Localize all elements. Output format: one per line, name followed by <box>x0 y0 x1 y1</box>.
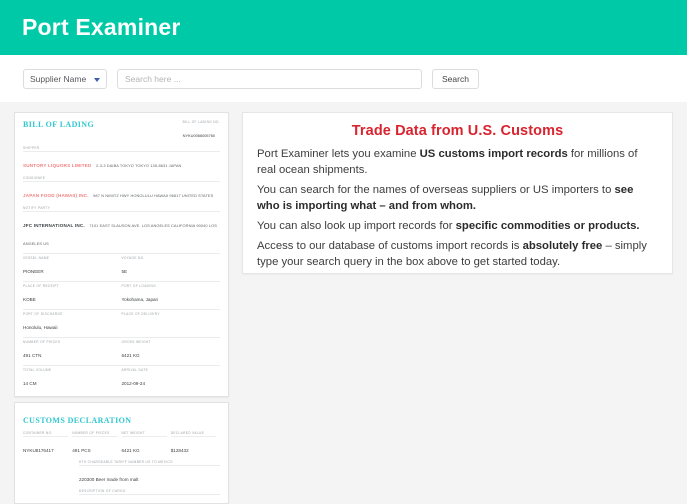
field-label: NUMBER OF PIECES <box>23 340 116 344</box>
panel-title: Trade Data from U.S. Customs <box>257 123 658 139</box>
bol-field: PLACE OF DELIVERY <box>122 312 221 334</box>
shipper-label: SHIPPER <box>23 146 220 152</box>
customs-column: NUMBER OF PIECES 491 PCS <box>72 431 121 457</box>
notify-party-block: NOTIFY PARTY JFC INTERNATIONAL INC. 7101… <box>23 206 220 250</box>
search-input[interactable] <box>117 69 422 89</box>
column-label: DECLARED VALUE <box>171 431 216 437</box>
search-category-select[interactable]: Supplier Name <box>23 69 107 89</box>
bol-field: NUMBER OF PIECES 491 CTN <box>23 340 122 362</box>
panel-paragraph: Port Examiner lets you examine US custom… <box>257 146 658 178</box>
column-label: NET WEIGHT <box>122 431 167 437</box>
cargo-description-label: DESCRIPTION OF CARGO <box>79 489 220 495</box>
shipper-block: SHIPPER SUNTORY LIQUORS LIMITED 2-3-3 DA… <box>23 146 220 172</box>
bol-field-row: NUMBER OF PIECES 491 CTN GROSS WEIGHT 64… <box>23 337 220 362</box>
field-value: Yokohama, Japan <box>122 297 159 302</box>
field-value: 491 CTN <box>23 353 41 358</box>
body-text: You can search for the names of overseas… <box>257 184 615 196</box>
body-text: Port Examiner lets you examine <box>257 148 420 160</box>
bol-field: PORT OF DISCHARGE Honolulu, Hawaii <box>23 312 122 334</box>
notify-party-name: JFC INTERNATIONAL INC. <box>23 223 85 228</box>
field-label: GROSS WEIGHT <box>122 340 215 344</box>
customs-declaration-title: CUSTOMS DECLARATION <box>23 416 131 425</box>
bol-field-row: TOTAL VOLUME 14 CM ARRIVAL DATE 2012-09-… <box>23 365 220 390</box>
search-button[interactable]: Search <box>432 69 479 89</box>
field-value: KOBE <box>23 297 36 302</box>
field-label: PLACE OF DELIVERY <box>122 312 215 316</box>
page-content: BILL OF LADING BILL OF LADING NO. NYKU00… <box>0 102 687 408</box>
emphasis-text: specific commodities or products. <box>456 220 640 232</box>
consignee-name: JAPAN FOOD (HAWAII) INC. <box>23 193 89 198</box>
bol-field: TOTAL VOLUME 14 CM <box>23 368 122 390</box>
column-value: $128432 <box>171 448 189 453</box>
customs-column: CONTAINER NO. NYKU8176417 <box>23 431 72 457</box>
bol-number-value: NYKU0066005760 <box>183 133 215 138</box>
panel-paragraph: You can search for the names of overseas… <box>257 182 658 214</box>
bol-field: ARRIVAL DATE 2012-09-24 <box>122 368 221 390</box>
panel-paragraph: You can also look up import records for … <box>257 218 658 234</box>
field-value: PIONEER <box>23 269 44 274</box>
bol-number-block: BILL OF LADING NO. NYKU0066005760 <box>183 120 220 142</box>
notify-party-label: NOTIFY PARTY <box>23 206 220 212</box>
field-label: TOTAL VOLUME <box>23 368 116 372</box>
consignee-label: CONSIGNEE <box>23 176 220 182</box>
bol-field: PORT OF LOADING Yokohama, Japan <box>122 284 221 306</box>
shipper-address: 2-3-3 DAIBA TOKYO TOKYO 135-8631 JAPAN <box>96 163 181 168</box>
bill-of-lading-card: BILL OF LADING BILL OF LADING NO. NYKU00… <box>14 112 229 397</box>
body-text: Access to our database of customs import… <box>257 240 523 252</box>
field-value: 14 CM <box>23 381 37 386</box>
hts-block: HTS CHARGEABLE TARIFF NUMBER US TO MEXIC… <box>23 460 220 495</box>
customs-columns-row: CONTAINER NO. NYKU8176417 NUMBER OF PIEC… <box>23 431 220 457</box>
hts-value: 220300 Beer made from malt <box>79 477 139 482</box>
consignee-address: 987 N NIMITZ HWY HONOLULU HAWAII 96817 U… <box>93 193 213 198</box>
shipper-name: SUNTORY LIQUORS LIMITED <box>23 163 92 168</box>
emphasis-text: absolutely free <box>523 240 603 252</box>
search-toolbar: Supplier Name Search <box>0 55 687 102</box>
bol-header: BILL OF LADING BILL OF LADING NO. NYKU00… <box>23 120 220 142</box>
column-value: 491 PCS <box>72 448 90 453</box>
bol-field: VESSEL NAME PIONEER <box>23 256 122 278</box>
bol-field: PLACE OF RECEIPT KOBE <box>23 284 122 306</box>
hts-label: HTS CHARGEABLE TARIFF NUMBER US TO MEXIC… <box>79 460 220 466</box>
app-header: Port Examiner <box>0 0 687 55</box>
customs-declaration-card: CUSTOMS DECLARATION CONTAINER NO. NYKU81… <box>14 402 229 504</box>
customs-column: DECLARED VALUE $128432 <box>171 431 220 457</box>
info-panel: Trade Data from U.S. Customs Port Examin… <box>242 112 673 274</box>
panel-paragraphs: Port Examiner lets you examine US custom… <box>257 146 658 270</box>
column-label: NUMBER OF PIECES <box>72 431 117 437</box>
field-value: Honolulu, Hawaii <box>23 325 57 330</box>
bol-field-row: VESSEL NAME PIONEER VOYAGE NO. 5E <box>23 253 220 278</box>
emphasis-text: US customs import records <box>420 148 568 160</box>
consignee-block: CONSIGNEE JAPAN FOOD (HAWAII) INC. 987 N… <box>23 176 220 202</box>
bol-number-label: BILL OF LADING NO. <box>183 120 220 124</box>
field-label: PORT OF LOADING <box>122 284 215 288</box>
bol-field: GROSS WEIGHT 6421 KG <box>122 340 221 362</box>
panel-paragraph: Access to our database of customs import… <box>257 238 658 270</box>
search-category-label: Supplier Name <box>30 74 86 84</box>
field-label: ARRIVAL DATE <box>122 368 215 372</box>
field-value: 5E <box>122 269 128 274</box>
column-label: CONTAINER NO. <box>23 431 68 437</box>
field-label: PORT OF DISCHARGE <box>23 312 116 316</box>
field-label: VOYAGE NO. <box>122 256 215 260</box>
bol-field: VOYAGE NO. 5E <box>122 256 221 278</box>
brand-title: Port Examiner <box>22 14 181 41</box>
field-value: 2012-09-24 <box>122 381 146 386</box>
body-text: You can also look up import records for <box>257 220 456 232</box>
column-value: 6421 KG <box>122 448 140 453</box>
field-label: VESSEL NAME <box>23 256 116 260</box>
bol-field-row: PLACE OF RECEIPT KOBE PORT OF LOADING Yo… <box>23 281 220 306</box>
bol-fields-grid: VESSEL NAME PIONEER VOYAGE NO. 5E PLACE … <box>23 253 220 390</box>
chevron-down-icon <box>94 78 100 82</box>
sample-document-column: BILL OF LADING BILL OF LADING NO. NYKU00… <box>14 112 229 408</box>
customs-column: NET WEIGHT 6421 KG <box>122 431 171 457</box>
bol-title: BILL OF LADING <box>23 120 94 129</box>
column-value: NYKU8176417 <box>23 448 54 453</box>
field-label: PLACE OF RECEIPT <box>23 284 116 288</box>
bol-field-row: PORT OF DISCHARGE Honolulu, Hawaii PLACE… <box>23 309 220 334</box>
field-value: 6421 KG <box>122 353 140 358</box>
